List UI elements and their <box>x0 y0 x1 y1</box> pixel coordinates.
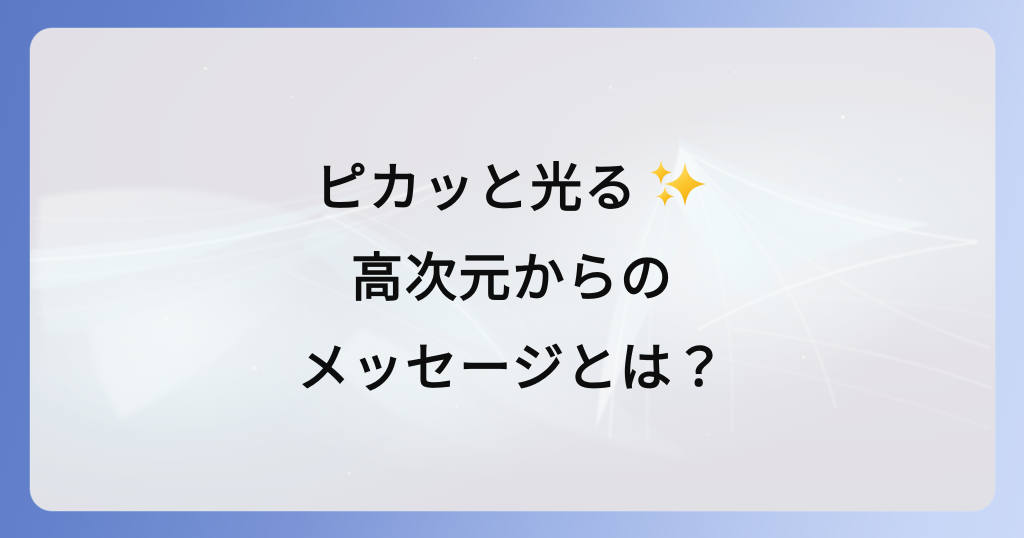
headline-line-1-text: ピカッと光る <box>315 159 638 219</box>
headline: ピカッと光る <box>30 144 995 414</box>
sparkles-icon <box>648 152 710 210</box>
headline-line-3: メッセージとは？ <box>30 324 995 414</box>
eyecatch-card: ピカッと光る <box>30 28 995 511</box>
eyecatch-frame: ピカッと光る <box>0 0 1024 538</box>
headline-line-2: 高次元からの <box>30 234 995 324</box>
headline-line-1: ピカッと光る <box>30 144 995 234</box>
